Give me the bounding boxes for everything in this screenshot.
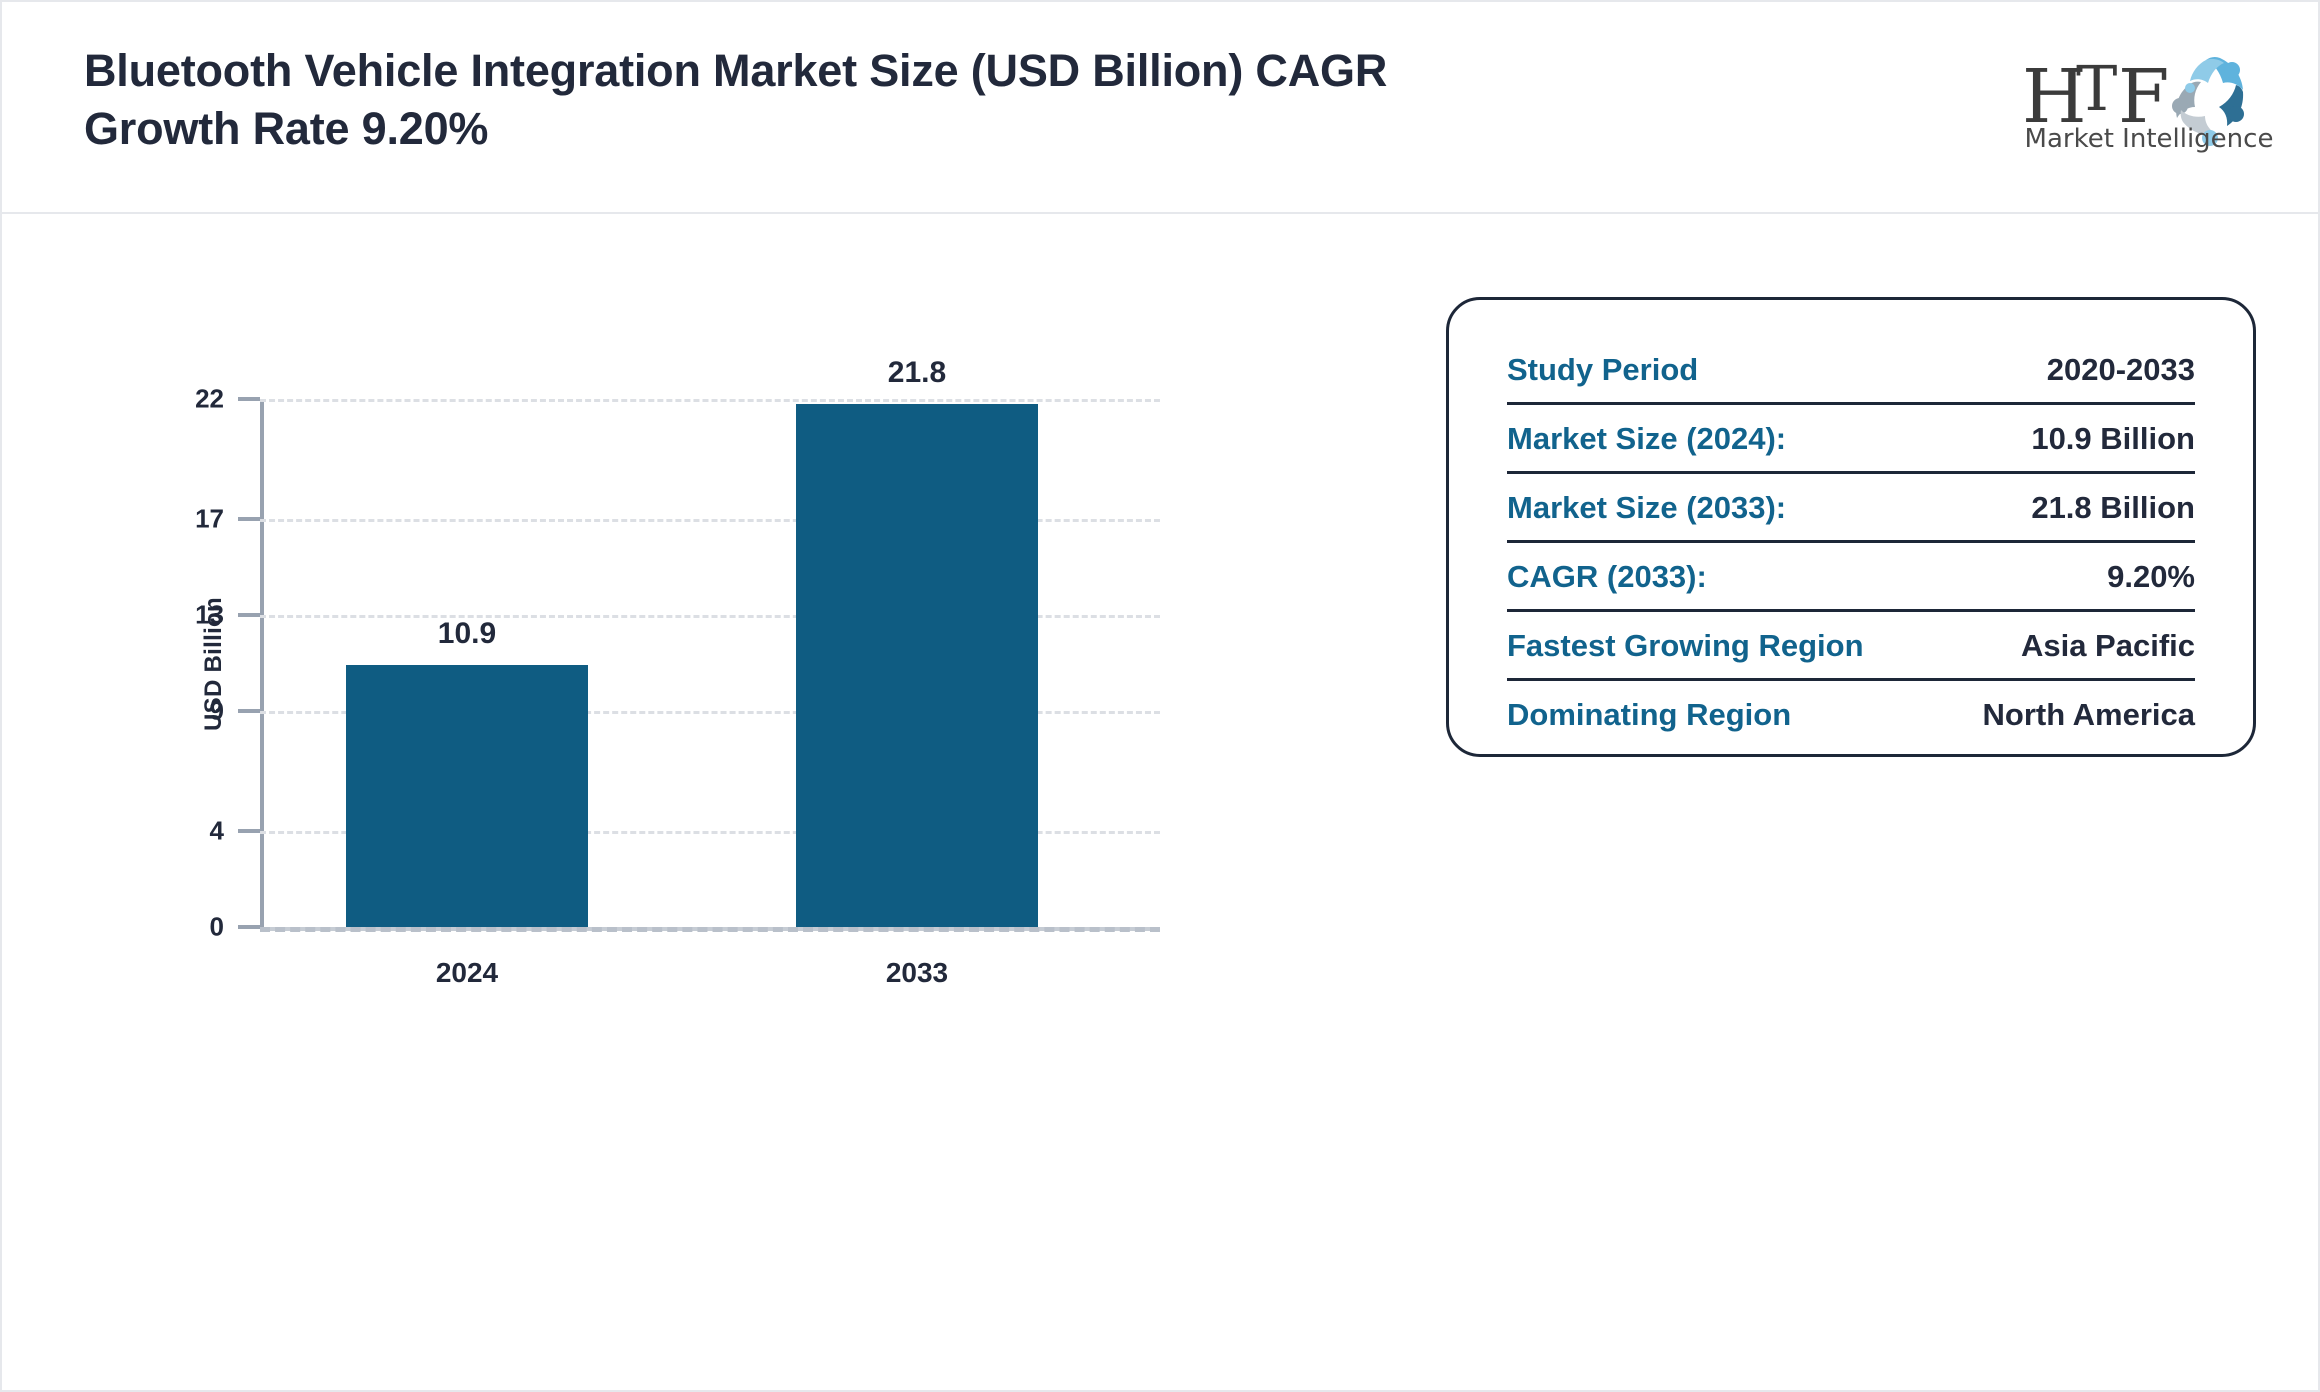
info-card-row-value: North America [1983,697,2195,733]
bar-value-label: 21.8 [796,356,1038,390]
chart-page: Bluetooth Vehicle Integration Market Siz… [0,0,2320,1392]
y-axis-tick-label: 13 [134,600,224,631]
y-axis-tick [238,925,260,929]
y-axis-spine [260,399,264,929]
y-axis-title: USD Billion [200,504,228,824]
info-card-row-value: 9.20% [2107,559,2195,595]
y-axis-tick-label: 22 [134,384,224,415]
info-card-row-value: 2020-2033 [2047,352,2195,388]
info-card-row-label: Fastest Growing Region [1507,628,1864,664]
htf-logo: H T F Market Intelligence [2020,38,2280,158]
y-axis-tick [238,397,260,401]
info-card-row: CAGR (2033):9.20% [1507,540,2195,609]
bar-value-label: 10.9 [346,617,588,651]
bar[interactable] [346,665,588,927]
info-card-rows: Study Period2020-2033Market Size (2024):… [1507,352,2195,747]
info-card: Study Period2020-2033Market Size (2024):… [1446,297,2256,757]
htf-logo-tagline: Market Intelligence [2020,124,2278,154]
y-axis-tick-label: 0 [134,912,224,943]
info-card-row: Study Period2020-2033 [1507,352,2195,402]
info-card-row-label: Dominating Region [1507,697,1791,733]
info-card-row-label: Market Size (2024): [1507,421,1786,457]
info-card-row-value: Asia Pacific [2021,628,2195,664]
y-axis-tick [238,613,260,617]
y-axis-tick [238,517,260,521]
x-axis-tick-label: 2033 [796,957,1038,989]
grid-line [260,399,1160,402]
x-axis-tick-label: 2024 [346,957,588,989]
info-card-row-label: Study Period [1507,352,1698,388]
info-card-row: Market Size (2024):10.9 Billion [1507,402,2195,471]
info-card-row-label: CAGR (2033): [1507,559,1707,595]
y-axis-tick-label: 4 [134,816,224,847]
y-axis-tick [238,709,260,713]
page-header: Bluetooth Vehicle Integration Market Siz… [2,2,2320,214]
info-card-row: Fastest Growing RegionAsia Pacific [1507,609,2195,678]
info-card-row: Market Size (2033):21.8 Billion [1507,471,2195,540]
info-card-row: Dominating RegionNorth America [1507,678,2195,747]
y-axis-tick [238,829,260,833]
y-axis-tick-label: 9 [134,696,224,727]
y-axis-tick-label: 17 [134,504,224,535]
bar-chart: USD Billion 049131722 10.9202421.82033 [2,214,1402,1392]
x-axis-baseline-dashed [260,927,1160,932]
info-card-row-value: 10.9 Billion [2031,421,2195,457]
info-card-row-value: 21.8 Billion [2031,490,2195,526]
info-card-row-label: Market Size (2033): [1507,490,1786,526]
page-title: Bluetooth Vehicle Integration Market Siz… [84,42,1504,157]
bar[interactable] [796,404,1038,927]
svg-text:T: T [2076,52,2117,125]
y-axis-title-wrap: USD Billion [112,399,172,929]
